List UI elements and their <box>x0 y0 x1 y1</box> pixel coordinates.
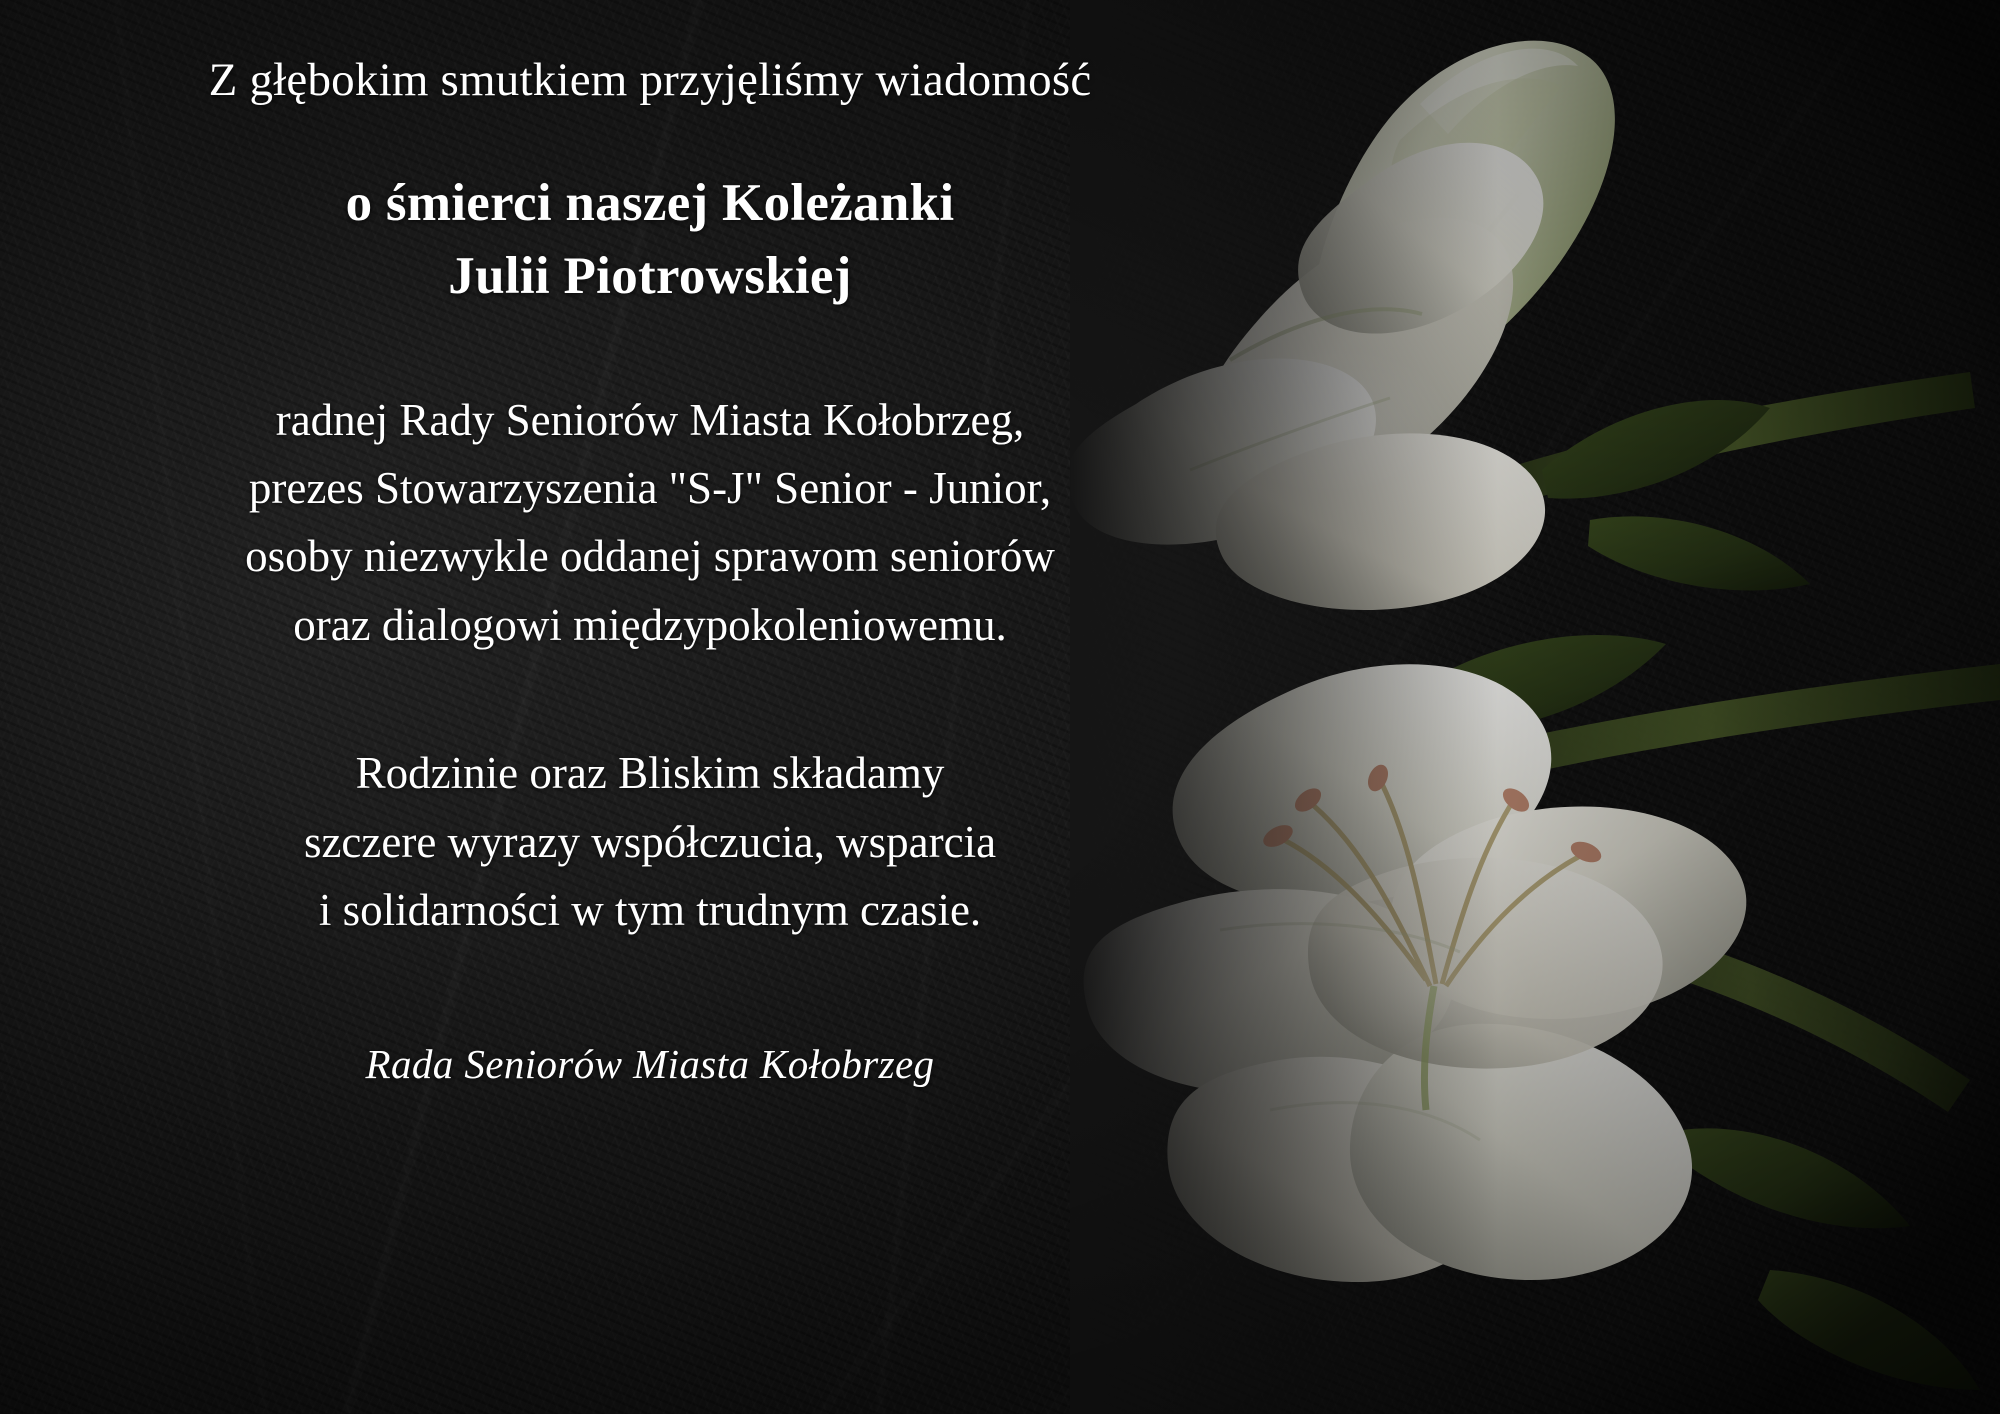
description-line-4: oraz dialogowi międzypokoleniowemu. <box>245 591 1055 659</box>
description-line-3: osoby niezwykle oddanej sprawom seniorów <box>245 522 1055 590</box>
description-line-2: prezes Stowarzyszenia "S-J" Senior - Jun… <box>245 454 1055 522</box>
condolence-line-1: Rodzinie oraz Bliskim składamy <box>304 739 996 807</box>
notice-headline: o śmierci naszej Koleżanki Julii Piotrow… <box>346 167 955 313</box>
deceased-name: Julii Piotrowskiej <box>346 240 955 313</box>
condolence-line-2: szczere wyrazy współczucia, wsparcia <box>304 808 996 876</box>
notice-lead-text: Z głębokim smutkiem przyjęliśmy wiadomoś… <box>209 52 1092 109</box>
description-line-1: radnej Rady Seniorów Miasta Kołobrzeg, <box>245 386 1055 454</box>
condolence-line-3: i solidarności w tym trudnym czasie. <box>304 876 996 944</box>
notice-condolence: Rodzinie oraz Bliskim składamy szczere w… <box>304 739 996 944</box>
headline-line-1: o śmierci naszej Koleżanki <box>346 167 955 240</box>
notice-description: radnej Rady Seniorów Miasta Kołobrzeg, p… <box>245 386 1055 660</box>
notice-text-column: Z głębokim smutkiem przyjęliśmy wiadomoś… <box>0 0 1300 1414</box>
notice-signature: Rada Seniorów Miasta Kołobrzeg <box>366 1040 935 1088</box>
condolence-notice-card: Z głębokim smutkiem przyjęliśmy wiadomoś… <box>0 0 2000 1414</box>
